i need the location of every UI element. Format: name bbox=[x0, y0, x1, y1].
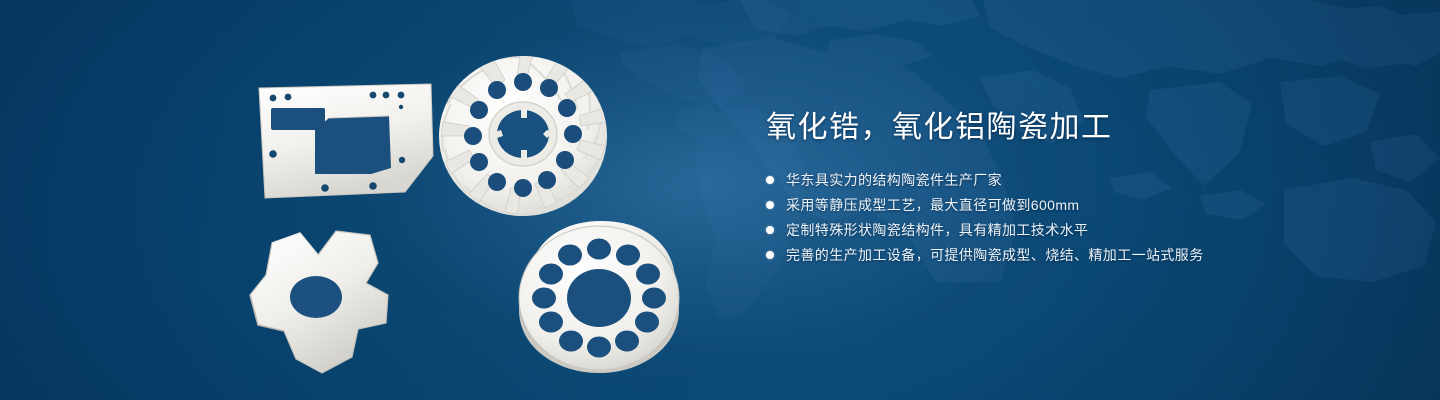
feature-text: 采用等静压成型工艺，最大直径可做到600mm bbox=[786, 195, 1079, 215]
page-title: 氧化锆，氧化铝陶瓷加工 bbox=[766, 108, 1386, 148]
feature-text: 完善的生产加工设备，可提供陶瓷成型、烧结、精加工一站式服务 bbox=[786, 245, 1204, 265]
promo-banner: 氧化锆，氧化铝陶瓷加工 华东具实力的结构陶瓷件生产厂家 采用等静压成型工艺，最大… bbox=[0, 0, 1440, 400]
ceramic-flat-plate bbox=[255, 82, 435, 202]
list-item: 定制特殊形状陶瓷结构件，具有精加工技术水平 bbox=[766, 218, 1386, 241]
list-item: 完善的生产加工设备，可提供陶瓷成型、烧结、精加工一站式服务 bbox=[766, 243, 1386, 266]
feature-text: 华东具实力的结构陶瓷件生产厂家 bbox=[786, 170, 1002, 190]
ceramic-impeller-disc bbox=[435, 48, 615, 223]
bullet-dot-icon bbox=[766, 226, 774, 234]
list-item: 华东具实力的结构陶瓷件生产厂家 bbox=[766, 168, 1386, 191]
bullet-dot-icon bbox=[766, 251, 774, 259]
bullet-dot-icon bbox=[766, 201, 774, 209]
feature-text: 定制特殊形状陶瓷结构件，具有精加工技术水平 bbox=[786, 220, 1088, 240]
list-item: 采用等静压成型工艺，最大直径可做到600mm bbox=[766, 193, 1386, 216]
ceramic-products-image bbox=[230, 40, 720, 385]
ceramic-star-part bbox=[240, 225, 440, 385]
banner-copy: 氧化锆，氧化铝陶瓷加工 华东具实力的结构陶瓷件生产厂家 采用等静压成型工艺，最大… bbox=[766, 108, 1386, 268]
feature-list: 华东具实力的结构陶瓷件生产厂家 采用等静压成型工艺，最大直径可做到600mm 定… bbox=[766, 168, 1386, 266]
ceramic-perforated-disc bbox=[515, 218, 685, 373]
bullet-dot-icon bbox=[766, 176, 774, 184]
